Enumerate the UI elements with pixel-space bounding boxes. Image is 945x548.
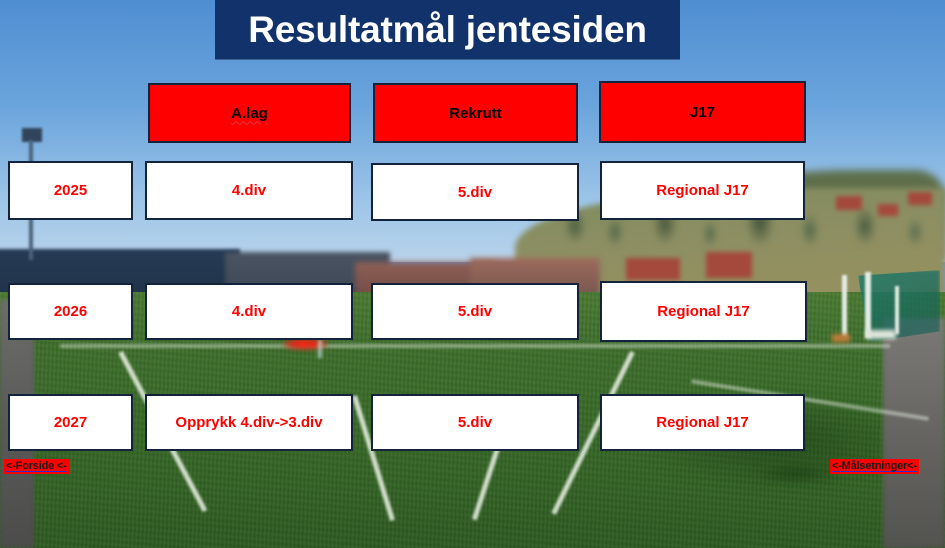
marker-pole [318,340,322,358]
nav-link-malsetninger[interactable]: <-Målsetninger<- [830,459,919,474]
row-year-cell[interactable]: 2027 [8,394,133,451]
asphalt-right [883,318,945,548]
row-a-lag-cell[interactable]: 4.div [145,161,353,220]
hillside-house [908,192,932,205]
cell-label: Opprykk 4.div->3.div [175,414,322,431]
pitch-object [832,334,850,342]
row-year-cell[interactable]: 2025 [8,161,133,220]
column-header-label: J17 [690,104,715,121]
pitch-object [866,330,896,339]
hillside-house [878,204,898,216]
nav-link-forside[interactable]: <-Forside <- [4,459,69,474]
cell-label: 4.div [232,182,266,199]
row-a-lag-cell[interactable]: 4.div [145,283,353,340]
cell-label: 5.div [458,303,492,320]
presentation-slide: Resultatmål jentesiden A.lag Rekrutt J17… [0,0,945,548]
cell-label: 5.div [458,414,492,431]
row-rekrutt-cell[interactable]: 5.div [371,163,579,221]
goal-post [895,286,899,334]
goal-post [865,272,871,338]
row-a-lag-cell[interactable]: Opprykk 4.div->3.div [145,394,353,451]
cell-label: 2025 [54,182,87,199]
row-j17-cell[interactable]: Regional J17 [600,281,807,342]
hillside-house [706,252,752,278]
pitch-line [60,344,890,348]
column-header-a-lag[interactable]: A.lag [148,83,351,143]
cell-label: 4.div [232,303,266,320]
cell-label: 2026 [54,303,87,320]
goal-post [842,275,847,337]
cell-label: Regional J17 [657,303,750,320]
row-j17-cell[interactable]: Regional J17 [600,394,805,451]
cell-label: Regional J17 [656,182,749,199]
column-header-label: Rekrutt [449,105,502,122]
column-header-j17[interactable]: J17 [599,81,806,143]
page-title: Resultatmål jentesiden [248,11,647,48]
row-rekrutt-cell[interactable]: 5.div [371,283,579,340]
row-j17-cell[interactable]: Regional J17 [600,161,805,220]
row-rekrutt-cell[interactable]: 5.div [371,394,579,451]
slide-title-banner: Resultatmål jentesiden [215,0,680,59]
cell-label: 5.div [458,184,492,201]
column-header-label: A.lag [231,105,268,122]
row-year-cell[interactable]: 2026 [8,283,133,340]
cell-label: 2027 [54,414,87,431]
column-header-rekrutt[interactable]: Rekrutt [373,83,578,143]
cell-label: Regional J17 [656,414,749,431]
hillside-house [626,258,680,280]
hillside-house [836,196,862,210]
